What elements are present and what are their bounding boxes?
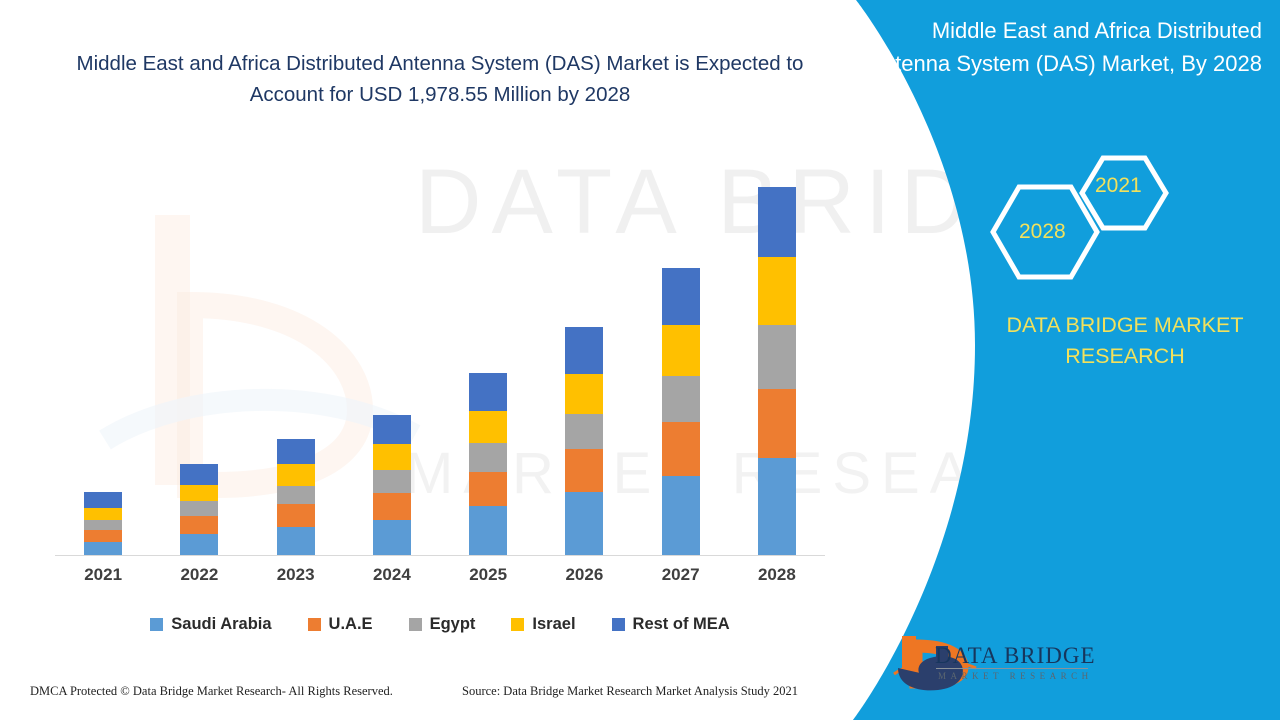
bar-segment-u-a-e xyxy=(180,516,218,534)
legend-item-egypt[interactable]: Egypt xyxy=(409,615,476,634)
x-label-2023: 2023 xyxy=(256,565,336,585)
bar-segment-u-a-e xyxy=(469,472,507,507)
bar-segment-egypt xyxy=(180,501,218,515)
bar-2025 xyxy=(469,373,507,556)
bar-segment-israel xyxy=(180,485,218,502)
bar-2026 xyxy=(565,327,603,556)
legend-item-israel[interactable]: Israel xyxy=(511,615,575,634)
bar-segment-u-a-e xyxy=(277,504,315,527)
bar-segment-egypt xyxy=(758,325,796,389)
bar-2028 xyxy=(758,187,796,556)
legend-swatch-icon xyxy=(150,618,163,631)
bar-segment-u-a-e xyxy=(662,422,700,476)
legend-label: Rest of MEA xyxy=(633,615,730,634)
bar-segment-egypt xyxy=(84,520,122,529)
x-label-2024: 2024 xyxy=(352,565,432,585)
x-label-2028: 2028 xyxy=(737,565,817,585)
bar-segment-rest-of-mea xyxy=(277,439,315,464)
x-axis-line xyxy=(55,555,825,556)
bar-segment-israel xyxy=(373,444,411,470)
bar-2022 xyxy=(180,464,218,556)
stacked-bar-chart xyxy=(55,150,825,556)
bar-segment-saudi-arabia xyxy=(565,492,603,556)
x-label-2025: 2025 xyxy=(448,565,528,585)
bar-segment-u-a-e xyxy=(758,389,796,458)
x-axis-labels: 20212022202320242025202620272028 xyxy=(55,565,825,595)
bar-2027 xyxy=(662,268,700,556)
footer-copyright: DMCA Protected © Data Bridge Market Rese… xyxy=(30,684,393,699)
bar-segment-rest-of-mea xyxy=(758,187,796,256)
bar-segment-saudi-arabia xyxy=(758,458,796,556)
x-label-2027: 2027 xyxy=(641,565,721,585)
legend-label: U.A.E xyxy=(329,615,373,634)
legend-label: Egypt xyxy=(430,615,476,634)
legend-swatch-icon xyxy=(511,618,524,631)
legend-label: Israel xyxy=(532,615,575,634)
x-label-2026: 2026 xyxy=(544,565,624,585)
bar-segment-israel xyxy=(277,464,315,485)
legend-item-saudi-arabia[interactable]: Saudi Arabia xyxy=(150,615,271,634)
bar-segment-saudi-arabia xyxy=(469,506,507,556)
legend-item-u-a-e[interactable]: U.A.E xyxy=(308,615,373,634)
bar-segment-u-a-e xyxy=(84,530,122,542)
x-label-2021: 2021 xyxy=(63,565,143,585)
logo-tagline: MARKET RESEARCH xyxy=(938,671,1093,681)
bar-segment-saudi-arabia xyxy=(277,527,315,556)
bar-segment-u-a-e xyxy=(565,449,603,492)
footer-source: Source: Data Bridge Market Research Mark… xyxy=(462,684,798,699)
hexagon-2028-label: 2028 xyxy=(1019,220,1066,244)
bar-segment-israel xyxy=(469,411,507,443)
bar-segment-rest-of-mea xyxy=(180,464,218,485)
hexagon-badges xyxy=(985,155,1185,285)
legend-item-rest-of-mea[interactable]: Rest of MEA xyxy=(612,615,730,634)
panel-title: Middle East and Africa Distributed Anten… xyxy=(862,14,1262,80)
x-label-2022: 2022 xyxy=(159,565,239,585)
bar-segment-saudi-arabia xyxy=(84,542,122,556)
legend-swatch-icon xyxy=(409,618,422,631)
brand-name: DATA BRIDGE MARKET RESEARCH xyxy=(975,310,1275,372)
bar-segment-rest-of-mea xyxy=(565,327,603,374)
bar-segment-egypt xyxy=(662,376,700,422)
bar-segment-rest-of-mea xyxy=(662,268,700,325)
bar-segment-egypt xyxy=(373,470,411,493)
bar-segment-saudi-arabia xyxy=(373,520,411,556)
bar-segment-u-a-e xyxy=(373,493,411,520)
bar-segment-israel xyxy=(758,257,796,325)
bar-segment-egypt xyxy=(469,443,507,472)
page-title: Middle East and Africa Distributed Anten… xyxy=(40,48,840,110)
hexagon-2021-label: 2021 xyxy=(1095,174,1142,198)
bar-2023 xyxy=(277,439,315,556)
bar-segment-rest-of-mea xyxy=(373,415,411,444)
chart-legend: Saudi ArabiaU.A.EEgyptIsraelRest of MEA xyxy=(55,615,825,634)
bar-segment-egypt xyxy=(277,486,315,504)
legend-swatch-icon xyxy=(612,618,625,631)
bar-segment-israel xyxy=(662,325,700,376)
bar-2024 xyxy=(373,415,411,556)
legend-label: Saudi Arabia xyxy=(171,615,271,634)
legend-swatch-icon xyxy=(308,618,321,631)
bar-segment-rest-of-mea xyxy=(84,492,122,508)
bar-segment-israel xyxy=(84,508,122,520)
bar-segment-saudi-arabia xyxy=(662,476,700,556)
bar-2021 xyxy=(84,492,122,556)
bar-segment-rest-of-mea xyxy=(469,373,507,410)
logo-wordmark: DATA BRIDGE xyxy=(935,643,1096,669)
bar-segment-saudi-arabia xyxy=(180,534,218,556)
infographic-canvas: DATA BRIDGE MARKET RESEARCH Middle East … xyxy=(0,0,1280,720)
bar-segment-israel xyxy=(565,374,603,414)
bar-segment-egypt xyxy=(565,414,603,450)
